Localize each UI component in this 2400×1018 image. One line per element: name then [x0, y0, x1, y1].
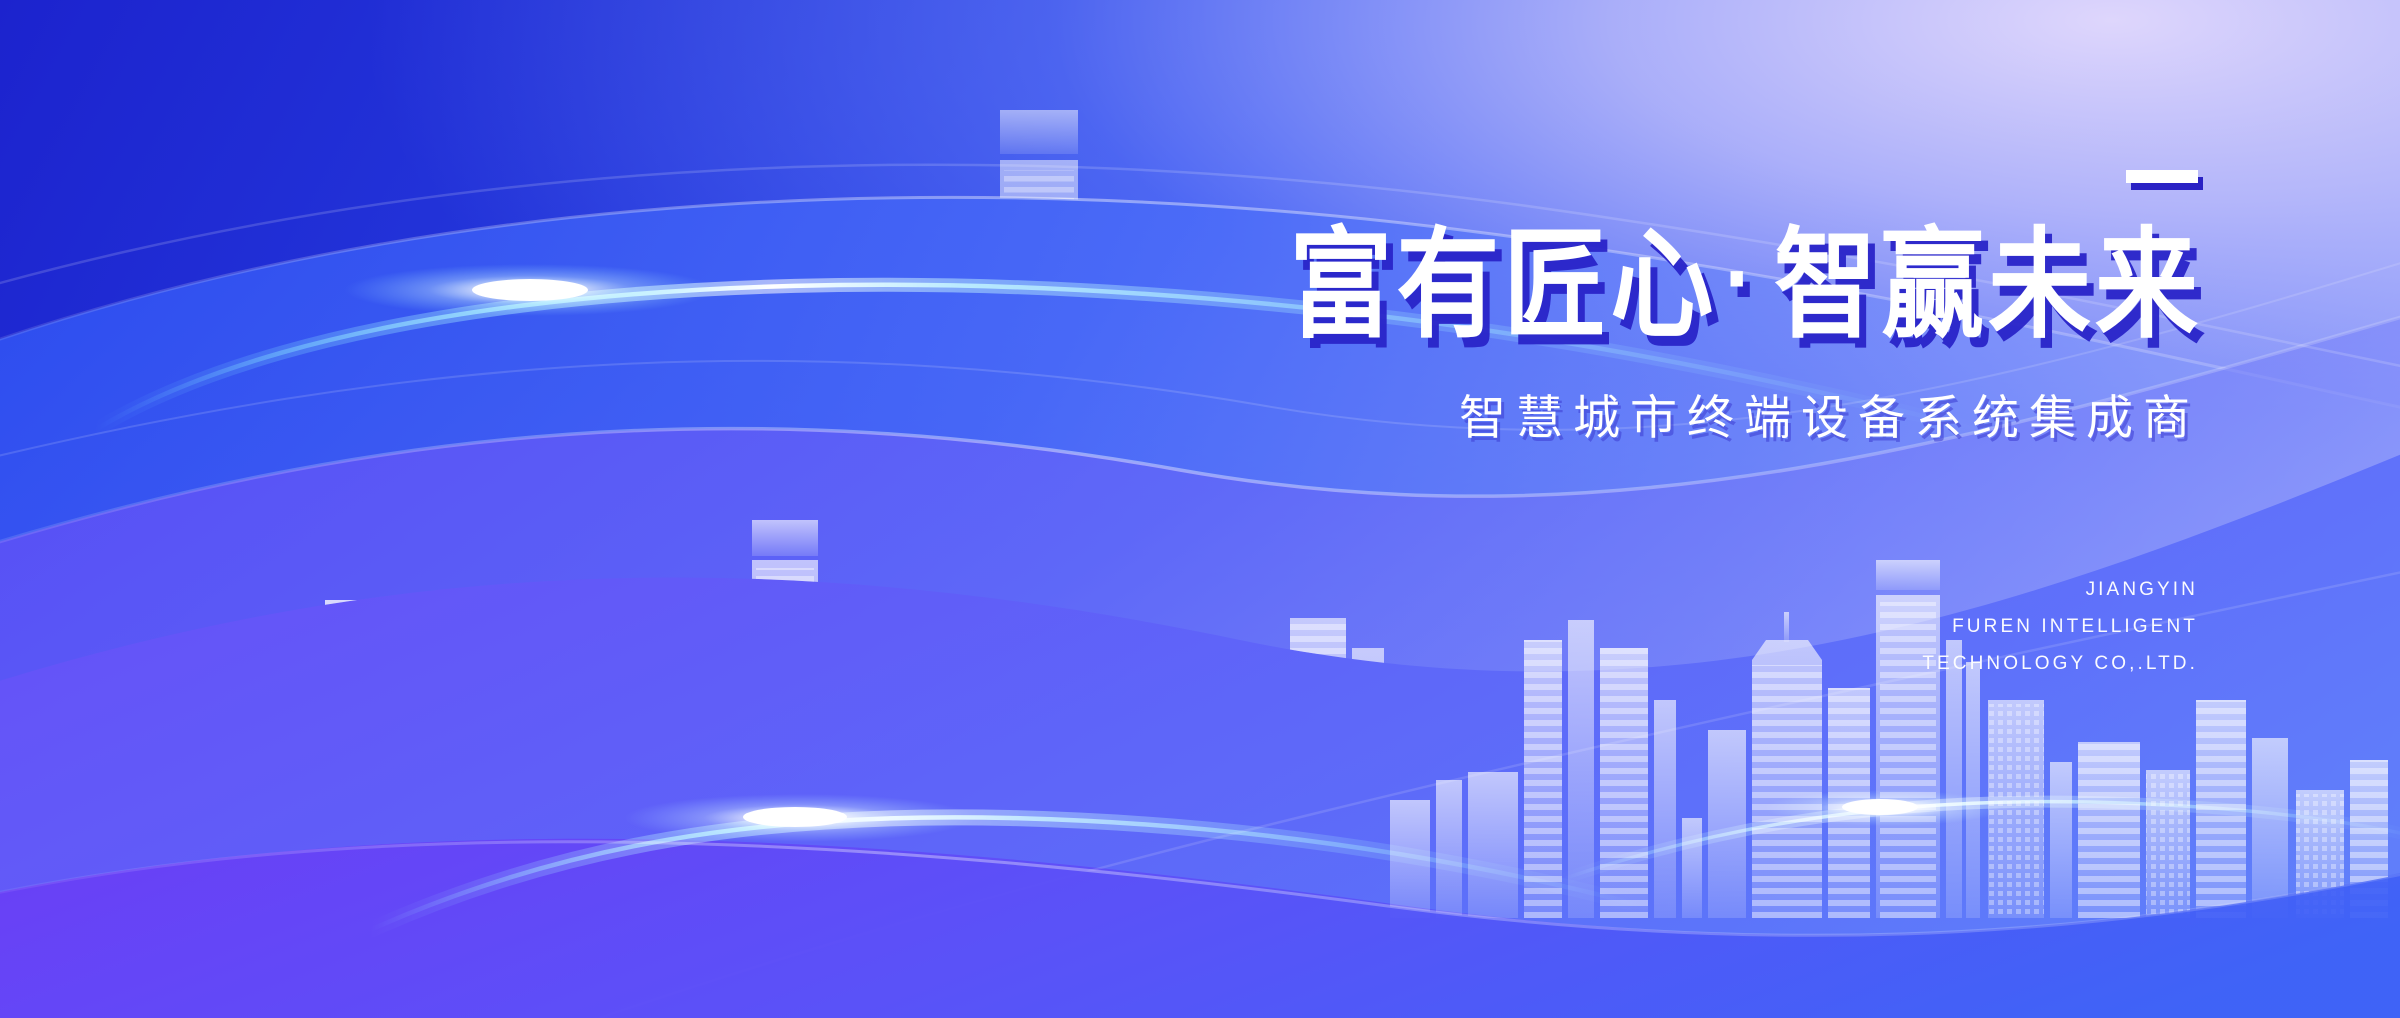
headline-left: 富有匠心	[1289, 216, 1717, 355]
company-name: JIANGYIN FUREN INTELLIGENT TECHNOLOGY CO…	[1102, 571, 2202, 682]
glow-arc-lower-core	[370, 817, 1640, 930]
glow-hotspot-right-center	[1842, 799, 1918, 815]
banner-root: 富有匠心·智赢未来 智慧城市终端设备系统集成商 JIANGYIN FUREN I…	[0, 0, 2400, 1018]
headline-separator-dot-icon: ·	[1717, 232, 1774, 327]
glow-arc-lower-wide	[370, 817, 1640, 930]
company-name-line-3: TECHNOLOGY CO,.LTD.	[1102, 645, 2198, 682]
company-name-line-1: JIANGYIN	[1102, 571, 2198, 608]
glow-hotspot-lower-center	[743, 807, 847, 827]
subtitle: 智慧城市终端设备系统集成商	[1102, 393, 2202, 445]
headline-right: 智赢未来	[1774, 216, 2202, 355]
company-name-line-2: FUREN INTELLIGENT	[1102, 608, 2198, 645]
accent-dash-icon	[2126, 170, 2198, 183]
banner-text-block: 富有匠心·智赢未来 智慧城市终端设备系统集成商 JIANGYIN FUREN I…	[1102, 170, 2202, 682]
headline: 富有匠心·智赢未来	[1102, 223, 2202, 350]
